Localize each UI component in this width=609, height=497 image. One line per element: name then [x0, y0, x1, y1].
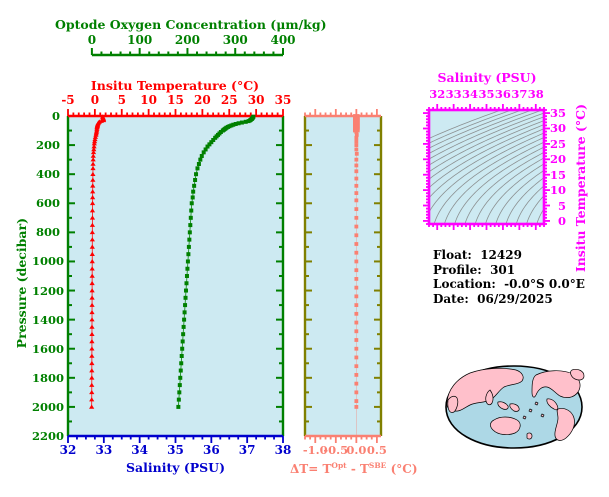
profile-value: 301 — [490, 263, 515, 277]
location-label: Location: — [433, 277, 496, 291]
date-value: 06/29/2025 — [477, 292, 553, 306]
profile-row: Profile: 301 — [433, 263, 585, 278]
location-value: -0.0°S 0.0°E — [504, 277, 585, 291]
world-locator-map — [432, 352, 596, 462]
float-label: Float: — [433, 248, 472, 262]
location-row: Location: -0.0°S 0.0°E — [433, 277, 585, 292]
profile-label: Profile: — [433, 263, 482, 277]
date-row: Date: 06/29/2025 — [433, 292, 585, 307]
float-metadata: Float: 12429 Profile: 301 Location: -0.0… — [433, 248, 585, 306]
float-id-row: Float: 12429 — [433, 248, 585, 263]
float-value: 12429 — [480, 248, 522, 262]
date-label: Date: — [433, 292, 469, 306]
